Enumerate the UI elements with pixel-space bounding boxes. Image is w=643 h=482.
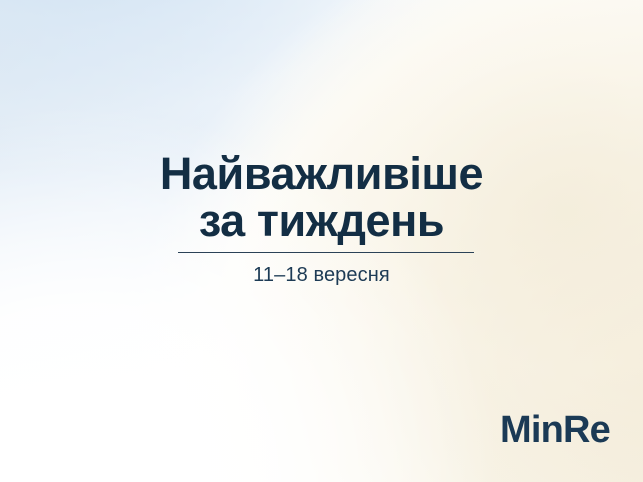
page-title: Найважливіше за тиждень [0, 150, 643, 244]
title-slide: Найважливіше за тиждень 11–18 вересня Mi… [0, 0, 643, 482]
page-title-line-2: за тиждень [0, 197, 643, 244]
slide-content: Найважливіше за тиждень 11–18 вересня Mi… [0, 0, 643, 482]
page-title-line-1: Найважливіше [0, 150, 643, 197]
date-range-subtitle: 11–18 вересня [0, 262, 643, 288]
brand-logo: MinRe [500, 411, 610, 449]
title-divider [178, 252, 474, 253]
